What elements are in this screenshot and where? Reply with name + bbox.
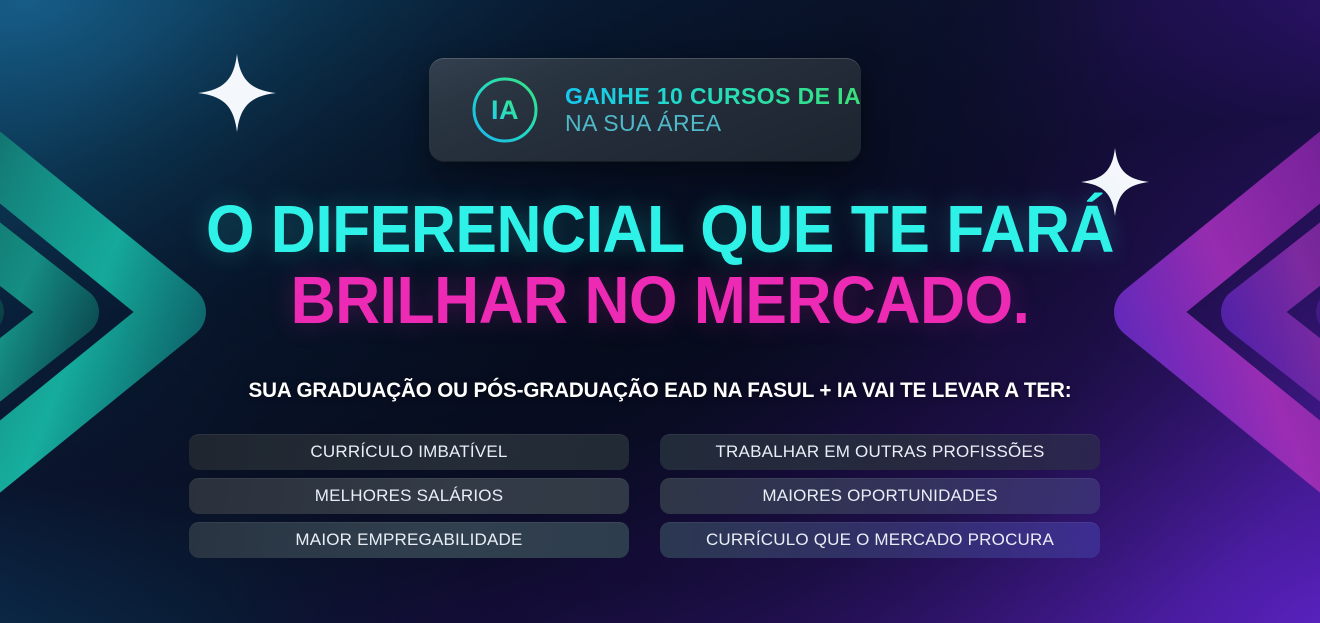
headline-line-1: O DIFERENCIAL QUE TE FARÁ (46, 196, 1274, 263)
ia-circle-logo: IA (471, 76, 539, 144)
promo-banner: IA GANHE 10 CURSOS DE IA NA SUA ÁREA O D… (0, 0, 1320, 623)
benefits-grid: CURRÍCULO IMBATÍVEL TRABALHAR EM OUTRAS … (189, 434, 1100, 558)
badge-copy: GANHE 10 CURSOS DE IA NA SUA ÁREA (565, 83, 861, 137)
benefit-pill: MAIOR EMPREGABILIDADE (189, 522, 629, 558)
badge-subheadline: NA SUA ÁREA (565, 110, 861, 137)
benefit-pill: MAIORES OPORTUNIDADES (660, 478, 1100, 514)
badge-headline: GANHE 10 CURSOS DE IA (565, 83, 861, 110)
ia-logo-label: IA (491, 97, 519, 124)
subtitle: SUA GRADUAÇÃO OU PÓS-GRADUAÇÃO EAD NA FA… (26, 378, 1293, 403)
benefit-pill: MELHORES SALÁRIOS (189, 478, 629, 514)
benefit-pill: CURRÍCULO IMBATÍVEL (189, 434, 629, 470)
ai-courses-badge: IA GANHE 10 CURSOS DE IA NA SUA ÁREA (429, 58, 861, 162)
benefit-pill: TRABALHAR EM OUTRAS PROFISSÕES (660, 434, 1100, 470)
headline: O DIFERENCIAL QUE TE FARÁ BRILHAR NO MER… (0, 196, 1320, 334)
benefit-pill: CURRÍCULO QUE O MERCADO PROCURA (660, 522, 1100, 558)
headline-line-2: BRILHAR NO MERCADO. (46, 267, 1274, 334)
